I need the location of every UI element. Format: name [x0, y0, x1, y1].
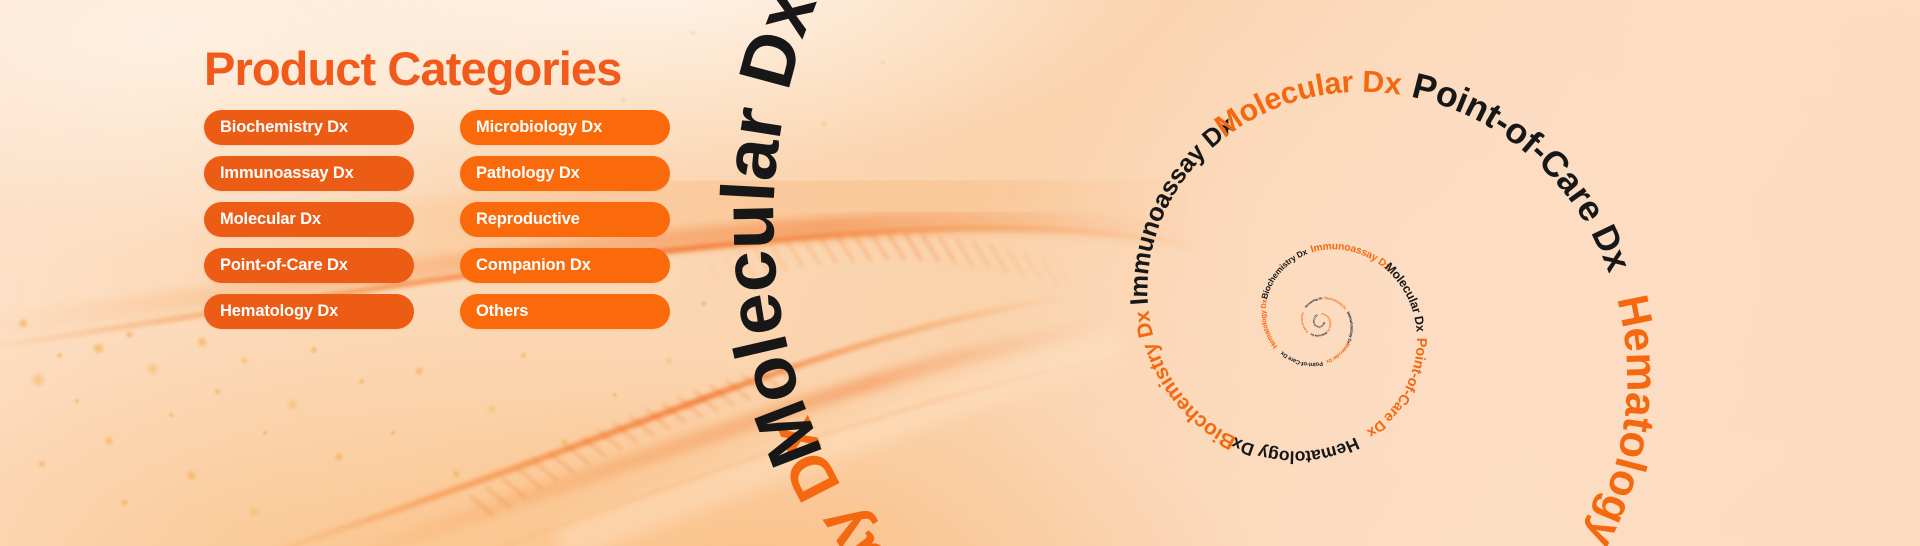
svg-text:Immunoassay Dx: Immunoassay Dx — [1321, 312, 1333, 334]
product-categories-banner: Biochemistry DxImmunoassay DxMolecular D… — [0, 0, 1920, 546]
category-pill-molecular-dx[interactable]: Molecular Dx — [204, 202, 414, 237]
category-pill-pathology-dx[interactable]: Pathology Dx — [460, 156, 670, 191]
svg-text:Point-of-Care Dx: Point-of-Care Dx — [1279, 349, 1323, 367]
category-pill-label: Immunoassay Dx — [220, 164, 354, 183]
category-pill-reproductive[interactable]: Reproductive — [460, 202, 670, 237]
category-pill-label: Microbiology Dx — [476, 118, 602, 137]
category-pill-label: Pathology Dx — [476, 164, 580, 183]
svg-text:Molecular Dx: Molecular Dx — [1325, 341, 1351, 363]
svg-text:Hematology Dx: Hematology Dx — [1228, 433, 1362, 467]
category-pill-microbiology-dx[interactable]: Microbiology Dx — [460, 110, 670, 145]
svg-text:Hematology Dx: Hematology Dx — [1304, 296, 1323, 309]
svg-text:Molecular Dx: Molecular Dx — [1209, 66, 1403, 144]
category-pill-hematology-dx[interactable]: Hematology Dx — [204, 294, 414, 329]
svg-text:Biochemistry Dx: Biochemistry Dx — [1131, 309, 1240, 454]
category-pill-label: Others — [476, 302, 528, 321]
svg-text:Immunoassay Dx: Immunoassay Dx — [1309, 241, 1393, 273]
svg-text:Point-of-Care Dx: Point-of-Care Dx — [1408, 65, 1639, 277]
category-pill-point-of-care-dx[interactable]: Point-of-Care Dx — [204, 248, 414, 283]
svg-text:Point-of-Care Dx: Point-of-Care Dx — [1364, 337, 1429, 440]
svg-text:Molecular Dx: Molecular Dx — [705, 0, 838, 478]
svg-text:Biochemistry Dx: Biochemistry Dx — [1259, 246, 1309, 300]
category-pill-label: Molecular Dx — [220, 210, 321, 229]
svg-text:Immunoassay Dx: Immunoassay Dx — [1125, 111, 1240, 306]
svg-text:Biochemistry Dx: Biochemistry Dx — [1312, 313, 1327, 329]
svg-text:Molecular Dx: Molecular Dx — [1309, 331, 1328, 338]
svg-text:Biochemistry Dx: Biochemistry Dx — [1324, 296, 1347, 310]
category-pill-label: Companion Dx — [476, 256, 591, 275]
category-pill-companion-dx[interactable]: Companion Dx — [460, 248, 670, 283]
svg-text:Immunoassay Dx: Immunoassay Dx — [756, 409, 1186, 546]
category-pill-label: Point-of-Care Dx — [220, 256, 348, 275]
category-pill-label: Hematology Dx — [220, 302, 338, 321]
svg-text:Hematology Dx: Hematology Dx — [1259, 299, 1279, 350]
svg-text:Immunoassay Dx: Immunoassay Dx — [1346, 311, 1355, 346]
category-pill-immunoassay-dx[interactable]: Immunoassay Dx — [204, 156, 414, 191]
category-pill-label: Reproductive — [476, 210, 580, 229]
category-pill-grid: Biochemistry Dx Microbiology Dx Immunoas… — [204, 110, 724, 329]
category-pill-label: Biochemistry Dx — [220, 118, 348, 137]
svg-text:Molecular Dx: Molecular Dx — [1382, 260, 1428, 333]
svg-text:Point-of-Care Dx: Point-of-Care Dx — [1300, 311, 1309, 333]
svg-text:Hematology Dx: Hematology Dx — [1540, 291, 1665, 546]
spiral-word-art: Biochemistry DxImmunoassay DxMolecular D… — [880, 0, 1760, 546]
categories-content: Product Categories Biochemistry Dx Micro… — [204, 44, 724, 329]
category-pill-biochemistry-dx[interactable]: Biochemistry Dx — [204, 110, 414, 145]
page-title: Product Categories — [204, 44, 724, 93]
category-pill-others[interactable]: Others — [460, 294, 670, 329]
